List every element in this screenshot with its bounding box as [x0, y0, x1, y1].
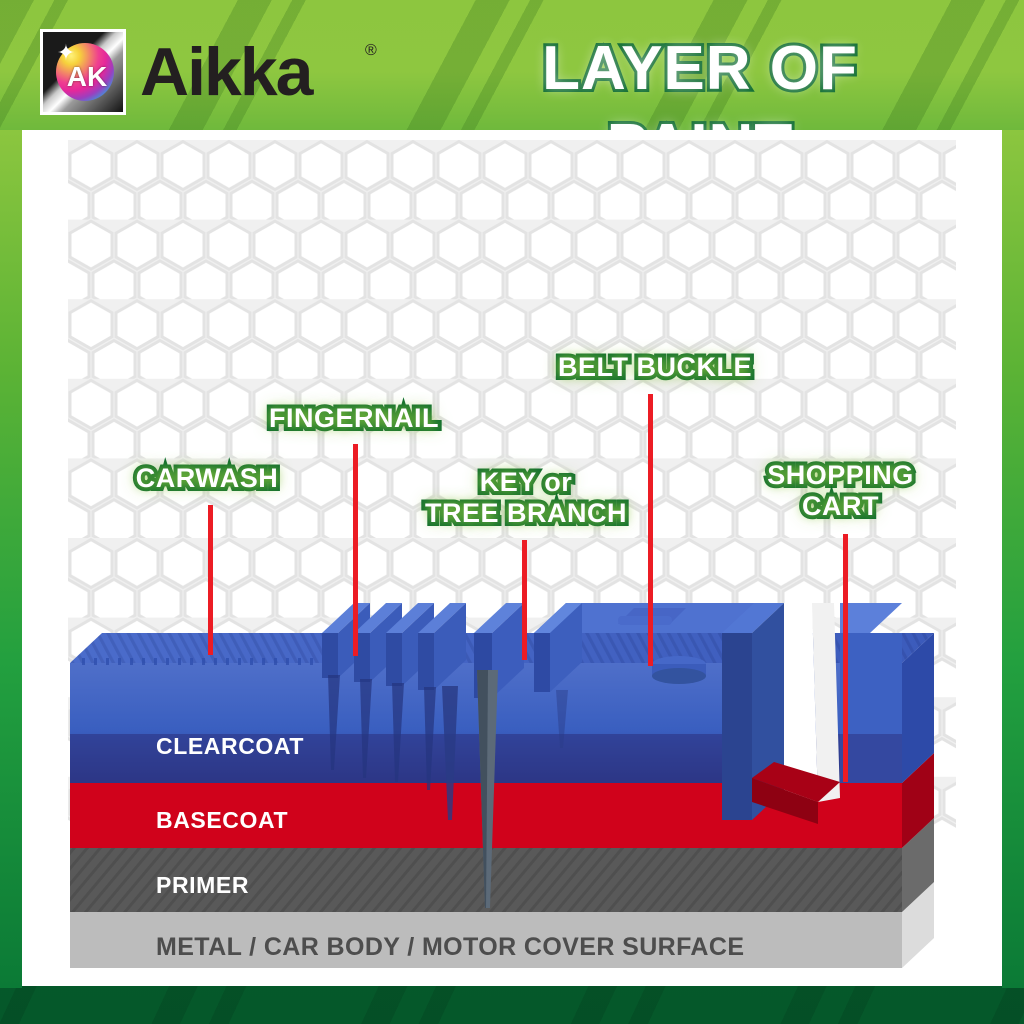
layer-label-substrate: METAL / CAR BODY / MOTOR COVER SURFACE	[156, 933, 744, 962]
left-green-strip	[0, 128, 22, 988]
callout-fingernail: FINGERNAIL	[250, 403, 458, 434]
registered-trademark-icon: ®	[365, 42, 377, 60]
header-bar: ✦ AK Aikka ® LAYER OF PAINT	[0, 0, 1024, 130]
aikka-logo-icon: ✦ AK	[40, 29, 126, 115]
leader-line-shopping-cart	[843, 534, 848, 782]
leader-line-belt-buckle	[648, 394, 653, 666]
layer-label-basecoat: BASECOAT	[156, 807, 288, 834]
callout-shopping-cart: SHOPPING CART	[749, 460, 932, 522]
callout-belt-buckle: BELT BUCKLE	[549, 352, 761, 383]
callout-carwash: CARWASH	[122, 463, 292, 494]
leader-line-fingernail	[353, 444, 358, 656]
right-green-strip	[1002, 128, 1024, 988]
layer-label-primer: PRIMER	[156, 872, 249, 899]
page-title: LAYER OF PAINT	[440, 30, 960, 108]
content-card: CLEARCOAT BASECOAT PRIMER METAL / CAR BO…	[22, 130, 1002, 986]
layer-label-clearcoat: CLEARCOAT	[156, 733, 304, 760]
leader-line-key-tree-branch	[522, 540, 527, 660]
brand-name: Aikka	[140, 28, 311, 116]
logo-ak-text: AK	[43, 32, 126, 115]
leader-line-carwash	[208, 505, 213, 655]
paint-layer-diagram	[22, 130, 1002, 986]
callout-key-tree-branch: KEY or TREE BRANCH	[415, 467, 637, 529]
